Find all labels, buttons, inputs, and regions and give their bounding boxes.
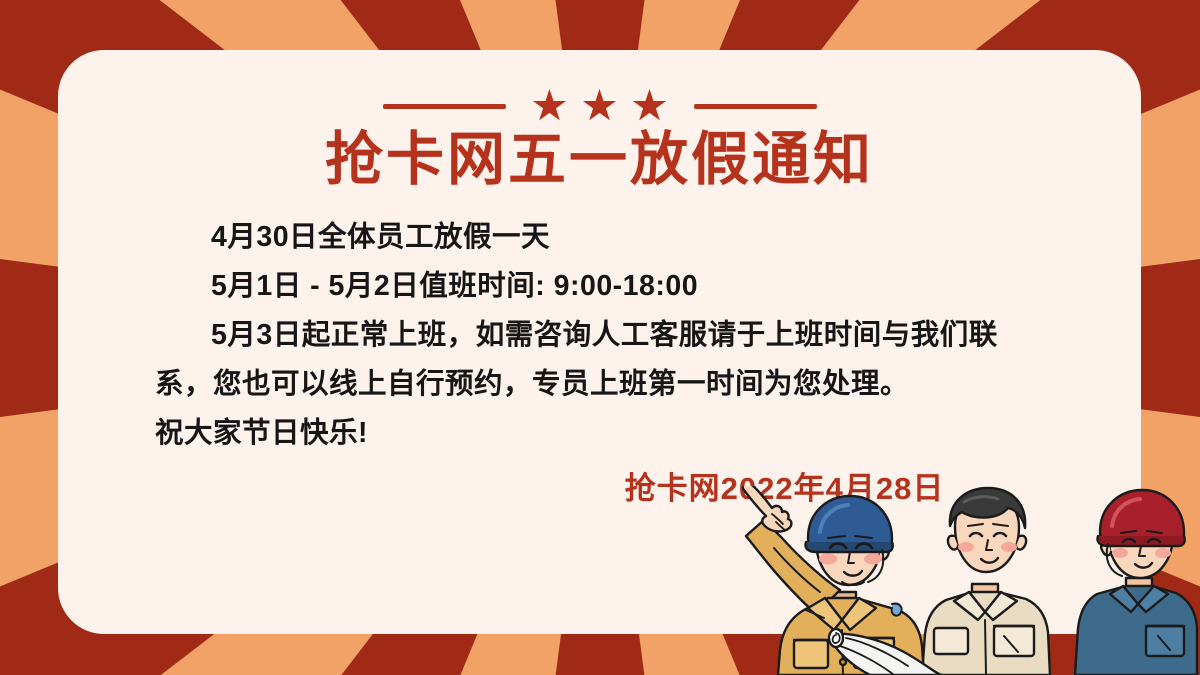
notice-body: 4月30日全体员工放假一天 5月1日 - 5月2日值班时间: 9:00-18:0… <box>155 213 1055 458</box>
page-title: 抢卡网五一放假通知 <box>58 126 1141 193</box>
decorative-rule-right-icon <box>694 104 817 109</box>
star-group <box>533 89 667 123</box>
decorative-rule-left-icon <box>383 104 506 109</box>
signature-line: 抢卡网2022年4月28日 <box>58 463 1141 508</box>
poster-canvas: 抢卡网五一放假通知 4月30日全体员工放假一天 5月1日 - 5月2日值班时间:… <box>0 0 1200 675</box>
notice-line-2: 5月1日 - 5月2日值班时间: 9:00-18:00 <box>155 262 1055 311</box>
notice-line-3: 5月3日起正常上班，如需咨询人工客服请于上班时间与我们联系，您也可以线上自行预约… <box>155 311 1050 409</box>
star-icon <box>533 89 567 123</box>
star-icon <box>633 89 667 123</box>
notice-line-4: 祝大家节日快乐! <box>155 409 1055 458</box>
ornament-row <box>58 88 1141 124</box>
star-icon <box>583 89 617 123</box>
notice-line-1: 4月30日全体员工放假一天 <box>155 213 1055 262</box>
